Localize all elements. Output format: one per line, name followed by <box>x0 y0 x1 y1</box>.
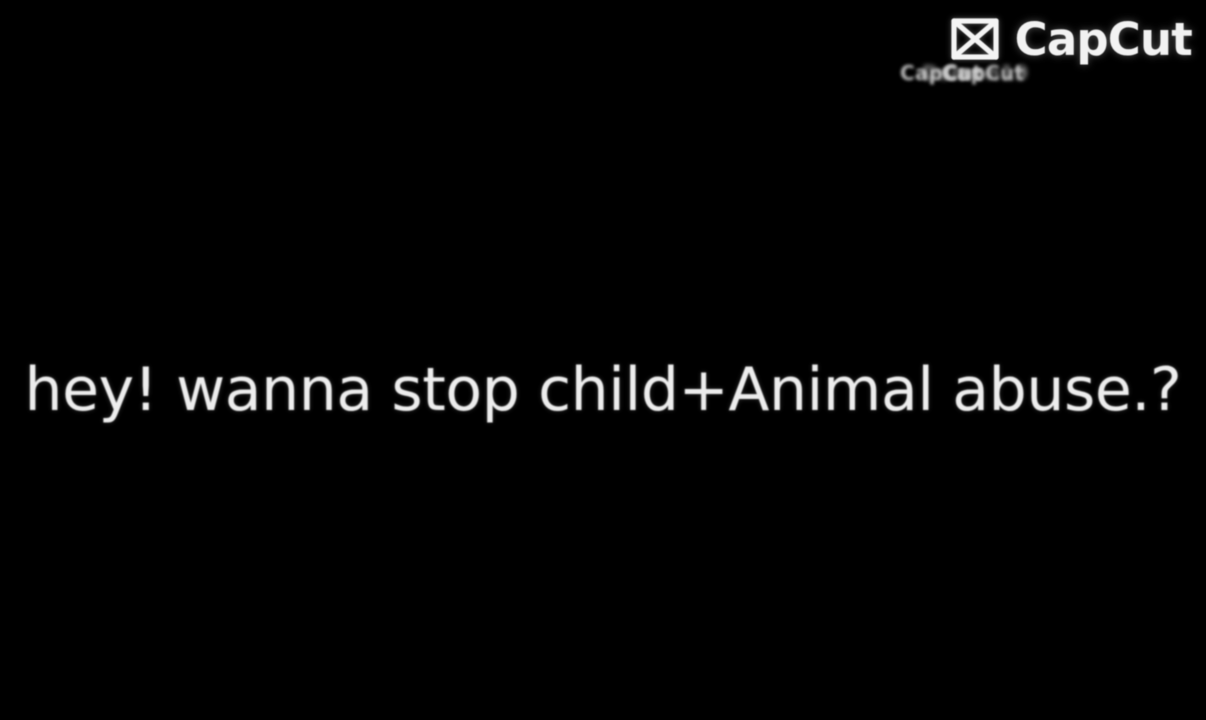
video-caption-text: hey! wanna stop child+Animal abuse.? <box>0 358 1206 422</box>
capcut-watermark: CapCut CapCut CapCut Dsmon19 <box>898 14 1192 84</box>
capcut-username-ghost-a: CapCut <box>900 62 982 84</box>
capcut-username-ghost-b: CapCut <box>942 62 1024 84</box>
capcut-bowtie-logo-glyph <box>944 14 1006 64</box>
capcut-username-ghost-c: Dsmon19 <box>922 62 1029 84</box>
video-frame: CapCut CapCut CapCut Dsmon19 hey! wanna … <box>0 0 1206 720</box>
capcut-username-line: CapCut CapCut Dsmon19 <box>898 62 1190 84</box>
capcut-wordmark: CapCut <box>1015 17 1192 62</box>
capcut-bowtie-logo-icon <box>944 14 1006 64</box>
capcut-brand-row: CapCut <box>944 14 1192 64</box>
